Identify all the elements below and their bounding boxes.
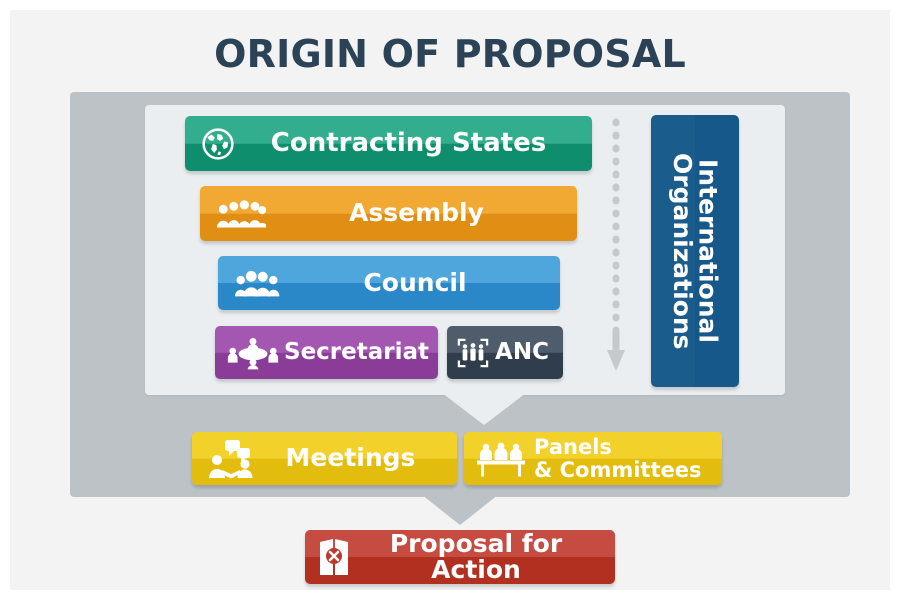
page-title: ORIGIN OF PROPOSAL (10, 32, 890, 76)
source-label: Secretariat (281, 340, 438, 364)
forum-label: Meetings (254, 445, 457, 471)
round-table-meeting-icon (225, 336, 281, 370)
dotted-down-arrow-icon (607, 118, 625, 373)
source-label: Council (280, 270, 560, 296)
source-bar-contracting-states[interactable]: Contracting States (185, 116, 592, 171)
container-down-arrow-icon (422, 495, 498, 525)
panel-down-arrow-icon (442, 393, 526, 425)
outcome-bar-proposal-for-action[interactable]: Proposal for Action (305, 530, 615, 584)
people-in-frame-icon (457, 337, 489, 369)
source-bar-secretariat[interactable]: Secretariat (215, 326, 438, 379)
intl-line-2: Organizations (668, 153, 697, 350)
people-group-icon (234, 267, 280, 299)
source-bar-assembly[interactable]: Assembly (200, 186, 577, 241)
forum-bar-panels-committees[interactable]: Panels& Committees (464, 432, 722, 485)
globe-icon (201, 127, 235, 161)
source-bar-council[interactable]: Council (218, 256, 560, 310)
panels-line-2: & Committees (534, 458, 702, 482)
source-label: Assembly (266, 200, 577, 226)
outcome-label: Proposal for Action (351, 531, 615, 584)
document-x-icon (317, 537, 351, 577)
source-label: Contracting States (235, 130, 592, 157)
panel-table-icon (476, 441, 526, 477)
forum-label: Panels& Committees (526, 436, 722, 480)
people-group-icon (216, 198, 266, 230)
panels-line-1: Panels (534, 435, 612, 459)
international-organizations-bar[interactable]: InternationalOrganizations (651, 115, 739, 387)
meeting-discussion-icon (208, 439, 254, 479)
forum-bar-meetings[interactable]: Meetings (192, 432, 457, 485)
source-label: ANC (489, 340, 563, 364)
diagram-canvas: ORIGIN OF PROPOSAL Contracting States (0, 0, 900, 600)
source-bar-anc[interactable]: ANC (447, 326, 563, 379)
intl-line-1: International (694, 159, 723, 343)
international-organizations-label: InternationalOrganizations (670, 153, 721, 350)
